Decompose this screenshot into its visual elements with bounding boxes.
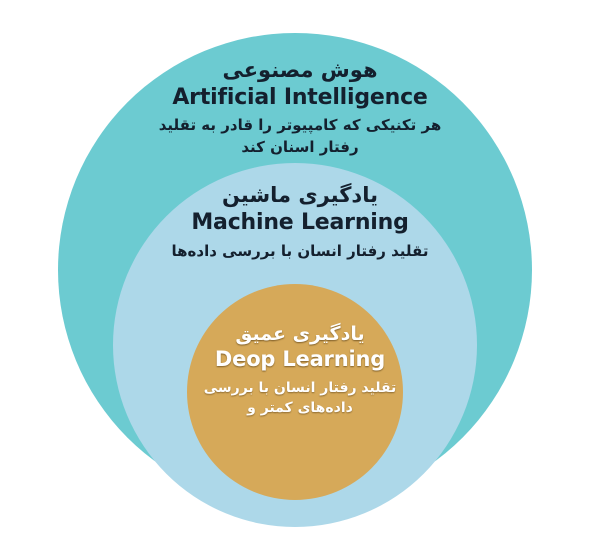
ai-description-persian: هر تکنیکی که کامپیوتر را قادر به تقلید ر… (0, 115, 600, 159)
dl-title-persian: یادگیری عمیق (0, 322, 600, 346)
ai-title-persian: هوش مصنوعی (0, 57, 600, 84)
label-machine-learning: یادگیری ماشین Machine Learning تقلید رفت… (0, 182, 600, 263)
label-artificial-intelligence: هوش مصنوعی Artificial Intelligence هر تک… (0, 57, 600, 159)
ml-description-persian: تقلید رفتار انسان با بررسی داده‌ها (0, 241, 600, 263)
venn-diagram: هوش مصنوعی Artificial Intelligence هر تک… (0, 0, 600, 535)
label-deep-learning: یادگیری عمیق Deop Learning تقلید رفتار ا… (0, 322, 600, 419)
dl-title-english: Deop Learning (0, 346, 600, 373)
ml-title-english: Machine Learning (0, 209, 600, 237)
ml-title-persian: یادگیری ماشین (0, 182, 600, 209)
ai-title-english: Artificial Intelligence (0, 84, 600, 112)
dl-description-persian: تقلید رفتار انسان با بررسی داده‌های کمتر… (0, 378, 600, 419)
